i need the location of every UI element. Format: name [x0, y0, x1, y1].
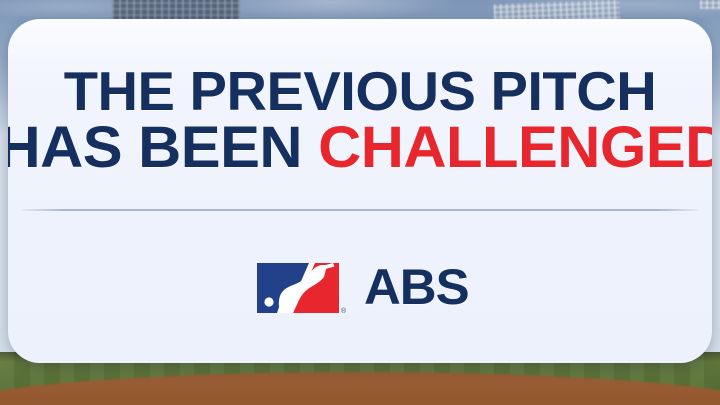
- headline-line-2-emphasis: CHALLENGED: [318, 115, 712, 180]
- mlb-logo-icon: ®: [253, 259, 351, 317]
- horizontal-divider: [22, 209, 698, 211]
- headline-block: THE PREVIOUS PITCH HAS BEEN CHALLENGED: [8, 65, 712, 175]
- challenge-announcement-card: THE PREVIOUS PITCH HAS BEEN CHALLENGED: [8, 19, 712, 363]
- headline-line-2-prefix: HAS BEEN: [8, 115, 318, 180]
- light-bank: [700, 0, 720, 9]
- headline-line-2: HAS BEEN CHALLENGED: [8, 120, 712, 176]
- broadcast-overlay-screen: THE PREVIOUS PITCH HAS BEEN CHALLENGED: [0, 0, 720, 405]
- registered-mark: ®: [341, 307, 347, 315]
- headline-line-1: THE PREVIOUS PITCH: [8, 65, 712, 118]
- abs-wordmark: ABS: [364, 262, 469, 312]
- brand-lockup: ® ABS: [8, 259, 712, 317]
- stadium-light-tower-far-right-icon: [700, 0, 720, 9]
